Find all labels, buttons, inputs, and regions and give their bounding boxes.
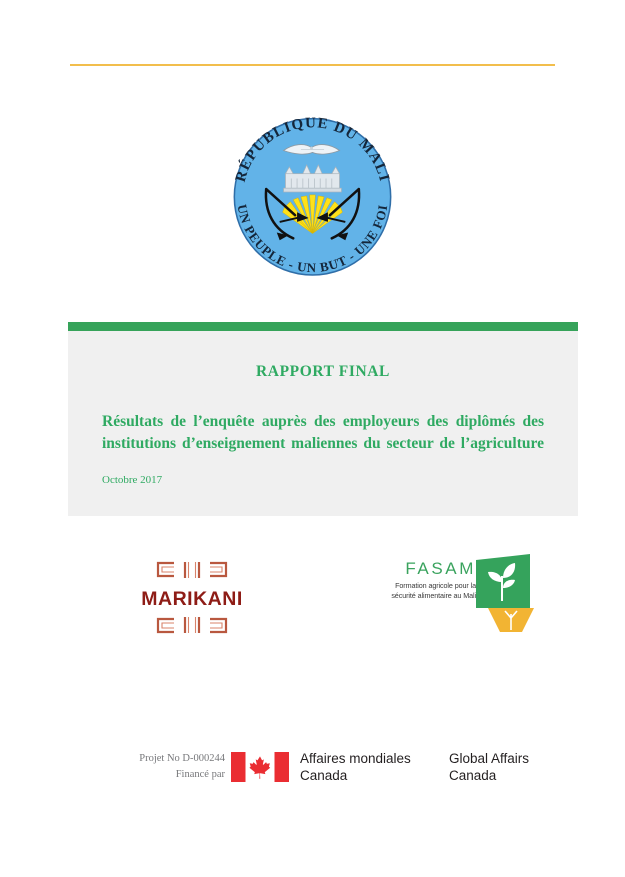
wordmark-global-affairs-canada: Global Affairs Canada [449, 750, 529, 784]
top-accent-rule [70, 64, 555, 66]
project-number: Projet No D-000244 [60, 751, 225, 767]
panel-body: RAPPORT FINAL Résultats de l’enquête aup… [68, 331, 578, 516]
fasam-wordmark: FASAM [372, 560, 476, 577]
wordmark-fr-line-2: Canada [300, 767, 411, 784]
funded-by-label: Financé par [60, 767, 225, 783]
fasam-tagline-line-1: Formation agricole pour la [395, 581, 476, 590]
report-date: Octobre 2017 [102, 474, 544, 486]
marikani-top-brackets-icon [138, 560, 246, 582]
marikani-bottom-brackets-icon [138, 613, 246, 635]
wordmark-fr-line-1: Affaires mondiales [300, 750, 411, 767]
marikani-logo: MARIKANI [138, 560, 246, 640]
panel-top-green-bar [68, 322, 578, 331]
republique-du-mali-coat-of-arms-icon: RÉPUBLIQUE DU MALI UN PEUPLE - UN BUT - … [216, 104, 409, 280]
fasam-logo: FASAM Formation agricole pour la sécurit… [372, 552, 532, 652]
partner-logo-row: MARIKANI FASAM Formation agricole pour l… [0, 552, 625, 662]
project-meta: Projet No D-000244 Financé par [60, 751, 225, 784]
wordmark-en-line-2: Canada [449, 767, 529, 784]
page-title-line-2: institutions d’enseignement maliennes du… [102, 433, 544, 455]
wordmark-affaires-mondiales-canada: Affaires mondiales Canada [300, 750, 411, 784]
page-title: Résultats de l’enquête auprès des employ… [102, 411, 544, 455]
marikani-wordmark: MARIKANI [138, 590, 246, 610]
fasam-tagline-line-2: sécurité alimentaire au Mali [391, 591, 476, 600]
footer: Projet No D-000244 Financé par Affaires … [0, 745, 625, 805]
report-kicker: RAPPORT FINAL [102, 363, 544, 381]
fasam-tagline: Formation agricole pour la sécurité alim… [372, 581, 476, 600]
title-panel: RAPPORT FINAL Résultats de l’enquête aup… [68, 322, 578, 516]
page-title-line-1: Résultats de l’enquête auprès des employ… [102, 411, 544, 433]
emblem-container: RÉPUBLIQUE DU MALI UN PEUPLE - UN BUT - … [0, 104, 625, 285]
wordmark-en-line-1: Global Affairs [449, 750, 529, 767]
fasam-text-block: FASAM Formation agricole pour la sécurit… [372, 560, 476, 600]
fasam-emblem-icon [476, 554, 542, 646]
canada-flag-icon [231, 752, 289, 782]
